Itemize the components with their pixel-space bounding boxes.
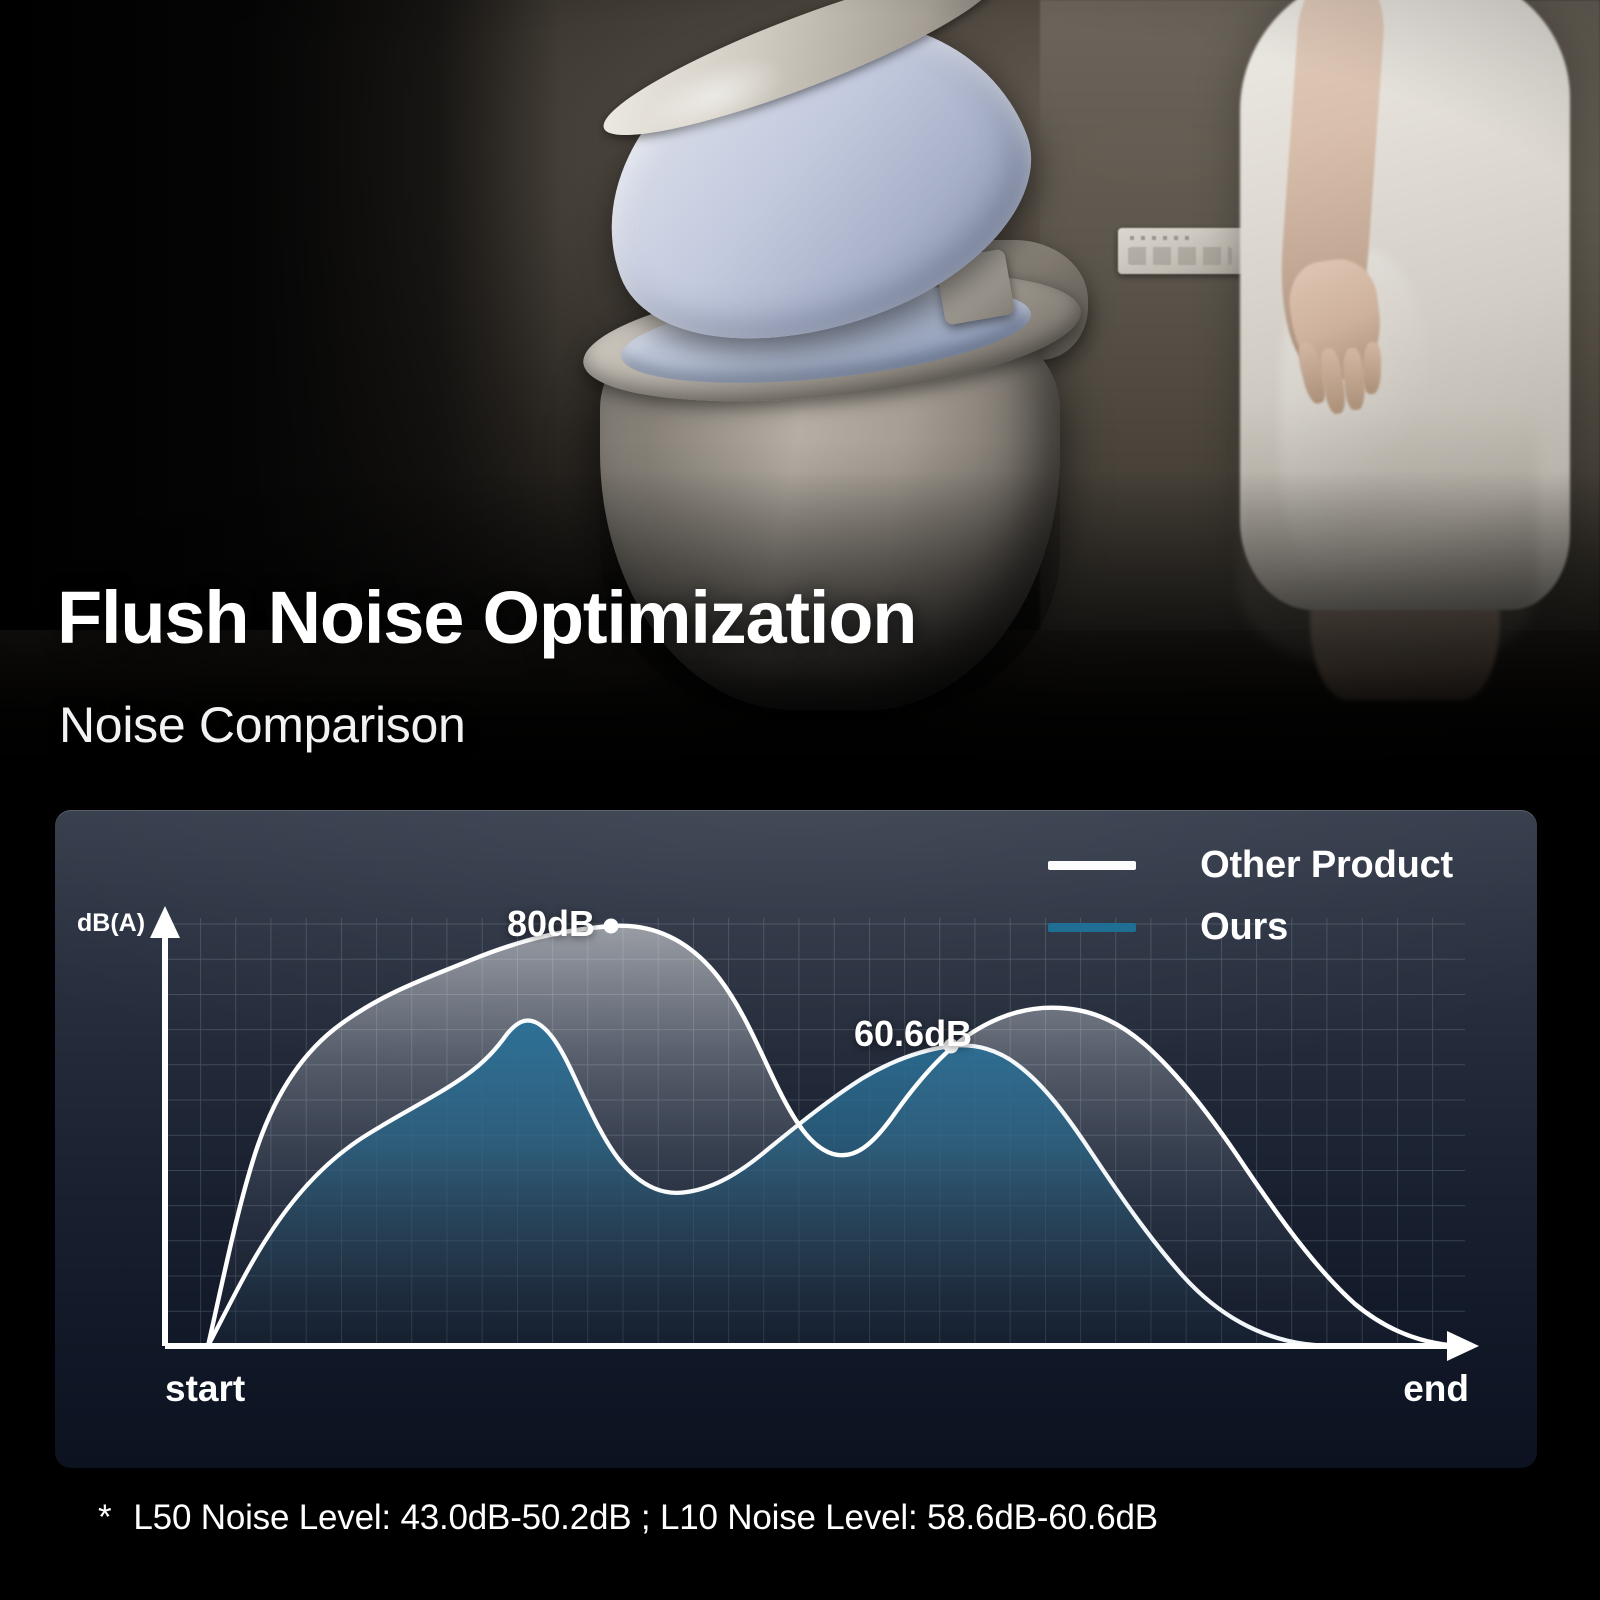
legend-item-other-product: Other Product xyxy=(1048,834,1453,896)
footnote-asterisk: * xyxy=(98,1498,111,1537)
legend-label-ours: Ours xyxy=(1200,906,1288,949)
annotation-peak-ours: 60.6dB xyxy=(854,1013,972,1055)
legend-swatch-ours xyxy=(1048,923,1136,932)
hero-photo xyxy=(0,0,1600,800)
noise-comparison-chart-panel: dB(A) start end 80dB 60.6dB Other Produc… xyxy=(55,810,1537,1468)
peak-marker-other-product xyxy=(604,919,619,934)
page-subtitle: Noise Comparison xyxy=(59,700,465,750)
page-title: Flush Noise Optimization xyxy=(57,581,916,655)
footnote-text: L50 Noise Level: 43.0dB-50.2dB ; L10 Noi… xyxy=(133,1498,1158,1537)
y-axis-label: dB(A) xyxy=(77,909,145,938)
promo-page: Flush Noise Optimization Noise Compariso… xyxy=(0,0,1600,1600)
legend-item-ours: Ours xyxy=(1048,896,1453,958)
chart-legend: Other Product Ours xyxy=(1048,834,1453,958)
footnote: *L50 Noise Level: 43.0dB-50.2dB ; L10 No… xyxy=(98,1498,1158,1538)
annotation-peak-other-product: 80dB xyxy=(507,903,595,945)
legend-label-other-product: Other Product xyxy=(1200,844,1453,887)
x-axis-start-label: start xyxy=(165,1368,245,1410)
legend-swatch-other-product xyxy=(1048,861,1136,870)
bathroom-scene xyxy=(0,0,1600,800)
x-axis-end-label: end xyxy=(1403,1368,1469,1410)
